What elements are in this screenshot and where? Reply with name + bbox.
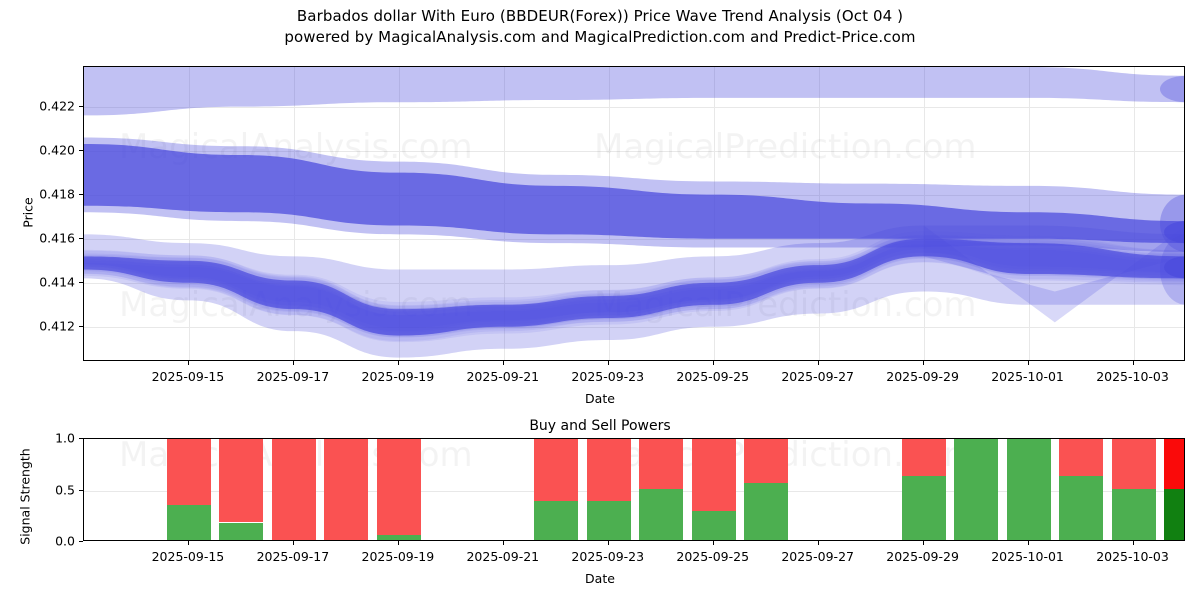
powers-x-axis-title: Date — [0, 571, 1200, 586]
price-x-tick-label: 2025-09-23 — [571, 369, 644, 384]
buy-power-segment — [219, 523, 263, 541]
sell-power-segment — [744, 438, 788, 483]
powers-chart-title: Buy and Sell Powers — [0, 418, 1200, 434]
sell-power-segment — [639, 438, 683, 489]
powers-y-tick-label: 0.0 — [55, 534, 75, 549]
sell-power-segment — [272, 438, 316, 540]
powers-y-axis-title: Signal Strength — [18, 437, 33, 557]
power-bar[interactable] — [954, 438, 998, 540]
chart-page: Barbados dollar With Euro (BBDEUR(Forex)… — [0, 0, 1200, 600]
buy-power-segment — [1164, 489, 1185, 541]
power-bar[interactable] — [1059, 438, 1103, 540]
powers-x-tick-mark — [1028, 541, 1029, 545]
powers-y-tick-mark — [79, 541, 83, 542]
power-bar[interactable] — [1112, 438, 1156, 540]
power-bar[interactable] — [639, 438, 683, 540]
sell-power-segment — [1164, 438, 1185, 489]
price-x-tick-label: 2025-10-03 — [1096, 369, 1169, 384]
sell-power-segment — [1059, 438, 1103, 476]
buy-power-segment — [902, 476, 946, 540]
price-y-tick-mark — [79, 194, 83, 195]
sell-power-segment — [219, 438, 263, 522]
powers-y-tick-label: 1.0 — [55, 431, 75, 446]
price-x-tick-mark — [188, 361, 189, 365]
title-line-2: powered by MagicalAnalysis.com and Magic… — [0, 27, 1200, 48]
sell-power-segment — [324, 438, 368, 540]
power-bar[interactable] — [272, 438, 316, 540]
buy-power-segment — [744, 483, 788, 540]
price-y-tick-mark — [79, 238, 83, 239]
sell-power-segment — [377, 438, 421, 535]
power-bar[interactable] — [902, 438, 946, 540]
price-y-tick-mark — [79, 282, 83, 283]
buy-power-segment — [954, 438, 998, 540]
powers-x-tick-label: 2025-09-29 — [886, 549, 959, 564]
wave-band-upper-band — [84, 67, 1185, 115]
price-y-tick-label: 0.418 — [39, 186, 75, 201]
power-bar[interactable] — [219, 438, 263, 540]
powers-x-tick-mark — [713, 541, 714, 545]
buy-power-segment — [1059, 476, 1103, 540]
buy-power-segment — [377, 535, 421, 540]
power-bar[interactable] — [744, 438, 788, 540]
powers-x-tick-mark — [1133, 541, 1134, 545]
price-x-tick-mark — [608, 361, 609, 365]
price-x-tick-label: 2025-09-27 — [781, 369, 854, 384]
powers-y-tick-label: 0.5 — [55, 482, 75, 497]
buy-power-segment — [1112, 489, 1156, 541]
price-x-tick-mark — [1133, 361, 1134, 365]
price-x-tick-label: 2025-10-01 — [991, 369, 1064, 384]
power-bar[interactable] — [1007, 438, 1051, 540]
powers-x-tick-mark — [818, 541, 819, 545]
buy-power-segment — [639, 489, 683, 541]
price-x-tick-mark — [398, 361, 399, 365]
powers-x-tick-label: 2025-09-17 — [257, 549, 330, 564]
price-wave-bands — [84, 67, 1185, 361]
powers-y-tick-mark — [79, 490, 83, 491]
power-bar[interactable] — [534, 438, 578, 540]
powers-x-tick-mark — [188, 541, 189, 545]
price-x-tick-mark — [293, 361, 294, 365]
powers-x-tick-label: 2025-09-19 — [362, 549, 435, 564]
power-bar[interactable] — [1164, 438, 1185, 540]
price-y-tick-mark — [79, 326, 83, 327]
powers-x-tick-mark — [608, 541, 609, 545]
powers-x-tick-label: 2025-10-03 — [1096, 549, 1169, 564]
sell-power-segment — [167, 438, 211, 505]
price-wave-chart: MagicalAnalysis.comMagicalPrediction.com… — [83, 66, 1185, 361]
price-y-tick-mark — [79, 150, 83, 151]
price-y-tick-label: 0.422 — [39, 98, 75, 113]
sell-power-segment — [1112, 438, 1156, 489]
powers-x-tick-label: 2025-09-25 — [676, 549, 749, 564]
price-y-tick-mark — [79, 106, 83, 107]
power-bar[interactable] — [167, 438, 211, 540]
price-y-axis-title: Price — [21, 183, 36, 243]
sell-power-segment — [692, 438, 736, 511]
power-bar[interactable] — [324, 438, 368, 540]
price-x-tick-mark — [503, 361, 504, 365]
price-x-tick-label: 2025-09-17 — [257, 369, 330, 384]
price-x-tick-mark — [713, 361, 714, 365]
sell-power-segment — [902, 438, 946, 476]
buy-power-segment — [587, 501, 631, 540]
price-x-tick-label: 2025-09-21 — [466, 369, 539, 384]
price-y-tick-label: 0.416 — [39, 230, 75, 245]
price-y-tick-label: 0.420 — [39, 142, 75, 157]
powers-x-tick-mark — [293, 541, 294, 545]
price-x-tick-label: 2025-09-15 — [152, 369, 225, 384]
page-title: Barbados dollar With Euro (BBDEUR(Forex)… — [0, 6, 1200, 48]
powers-y-tick-mark — [79, 438, 83, 439]
buy-power-segment — [692, 511, 736, 540]
power-bar[interactable] — [692, 438, 736, 540]
powers-x-tick-label: 2025-09-23 — [571, 549, 644, 564]
powers-x-tick-mark — [923, 541, 924, 545]
buy-power-segment — [167, 505, 211, 540]
power-bar[interactable] — [377, 438, 421, 540]
price-x-axis-title: Date — [0, 391, 1200, 406]
price-y-tick-label: 0.412 — [39, 318, 75, 333]
sell-power-segment — [534, 438, 578, 501]
powers-x-tick-label: 2025-09-21 — [466, 549, 539, 564]
powers-x-tick-label: 2025-09-15 — [152, 549, 225, 564]
buy-sell-powers-chart: MagicalAnalysis.comMagicalPrediction.com — [83, 438, 1185, 541]
sell-power-segment — [587, 438, 631, 501]
price-x-tick-mark — [1028, 361, 1029, 365]
buy-power-segment — [534, 501, 578, 540]
powers-x-tick-mark — [398, 541, 399, 545]
powers-x-tick-label: 2025-09-27 — [781, 549, 854, 564]
price-x-tick-mark — [923, 361, 924, 365]
price-x-tick-label: 2025-09-25 — [676, 369, 749, 384]
price-y-tick-label: 0.414 — [39, 274, 75, 289]
buy-power-segment — [1007, 438, 1051, 540]
price-x-tick-label: 2025-09-29 — [886, 369, 959, 384]
powers-x-tick-label: 2025-10-01 — [991, 549, 1064, 564]
price-x-tick-mark — [818, 361, 819, 365]
title-line-1: Barbados dollar With Euro (BBDEUR(Forex)… — [0, 6, 1200, 27]
price-x-tick-label: 2025-09-19 — [362, 369, 435, 384]
powers-x-tick-mark — [503, 541, 504, 545]
power-bar[interactable] — [587, 438, 631, 540]
